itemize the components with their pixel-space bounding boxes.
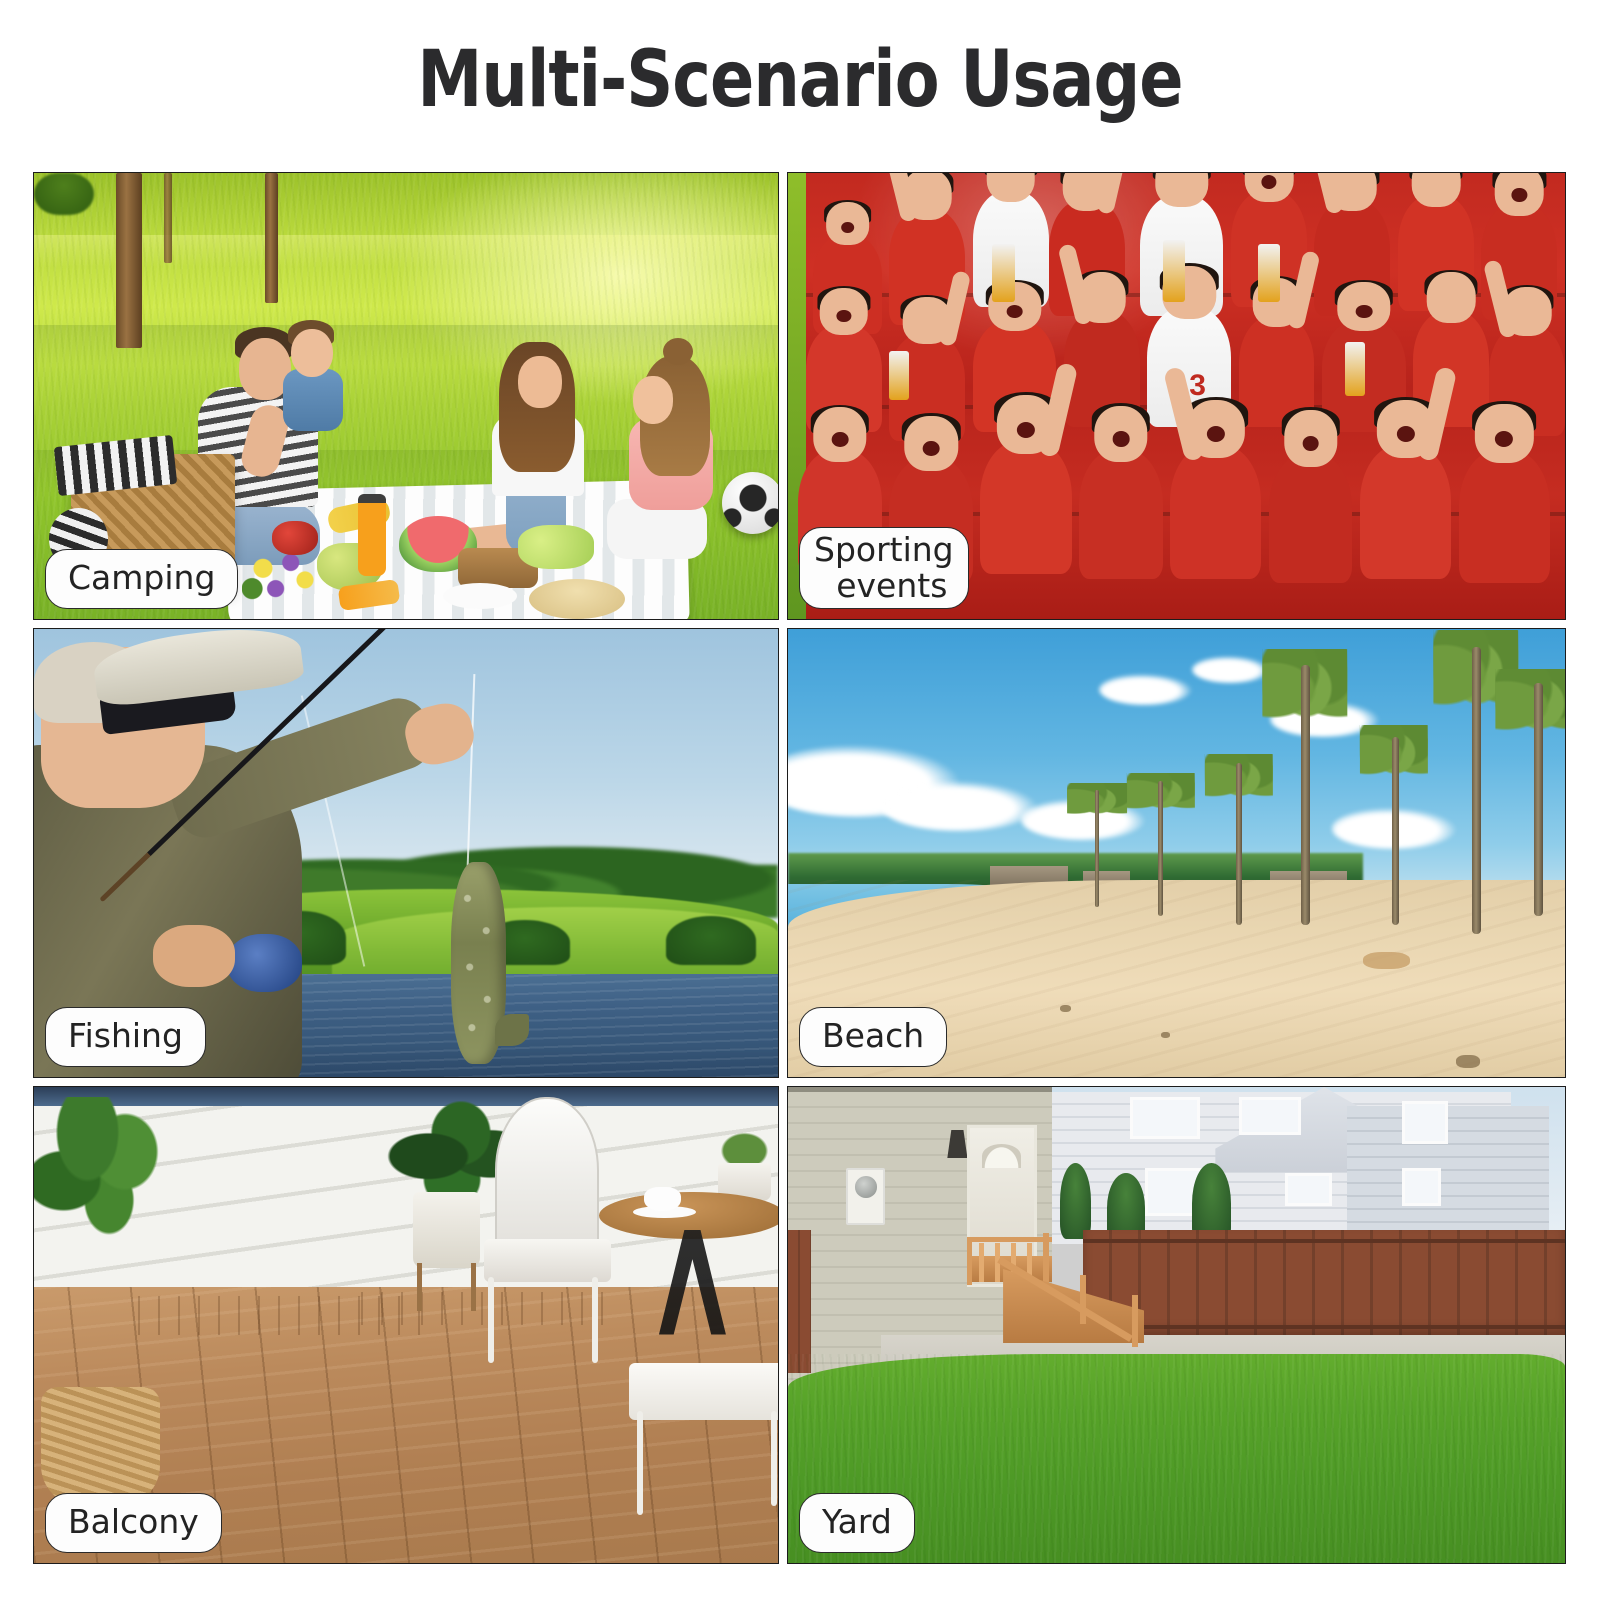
scenario-card-camping[interactable]: Camping [33,172,779,620]
scenario-badge-camping: Camping [45,549,238,609]
multi-scenario-usage-page: Multi-Scenario Usage [0,0,1600,1600]
scenario-badge-sporting-events: Sporting events [799,527,969,609]
page-title: Multi-Scenario Usage [56,32,1544,128]
yard-scene-image [788,1087,1565,1563]
fishing-reel [227,934,301,992]
scenario-card-sporting-events[interactable]: 13 [787,172,1566,620]
woven-planter [41,1387,160,1506]
badge-line-1: Sporting [814,530,954,569]
scenario-card-balcony[interactable]: Balcony [33,1086,779,1564]
deck-stairs [967,1211,1169,1373]
scenario-card-yard[interactable]: Yard [787,1086,1566,1564]
scenario-badge-yard: Yard [799,1493,915,1553]
scenario-card-fishing[interactable]: Fishing [33,628,779,1078]
badge-line-2: events [830,568,954,604]
scenario-badge-beach: Beach [799,1007,947,1067]
folding-chair [495,1097,599,1249]
scenario-grid: Camping [33,172,1566,1563]
utility-meter [846,1168,885,1225]
soccer-ball [722,472,778,534]
balcony-scene-image [34,1087,778,1563]
scenario-badge-fishing: Fishing [45,1007,206,1067]
coffee-cup [644,1187,681,1211]
white-stool [629,1363,778,1420]
scenario-card-beach[interactable]: Beach [787,628,1566,1078]
scenario-badge-balcony: Balcony [45,1493,222,1553]
